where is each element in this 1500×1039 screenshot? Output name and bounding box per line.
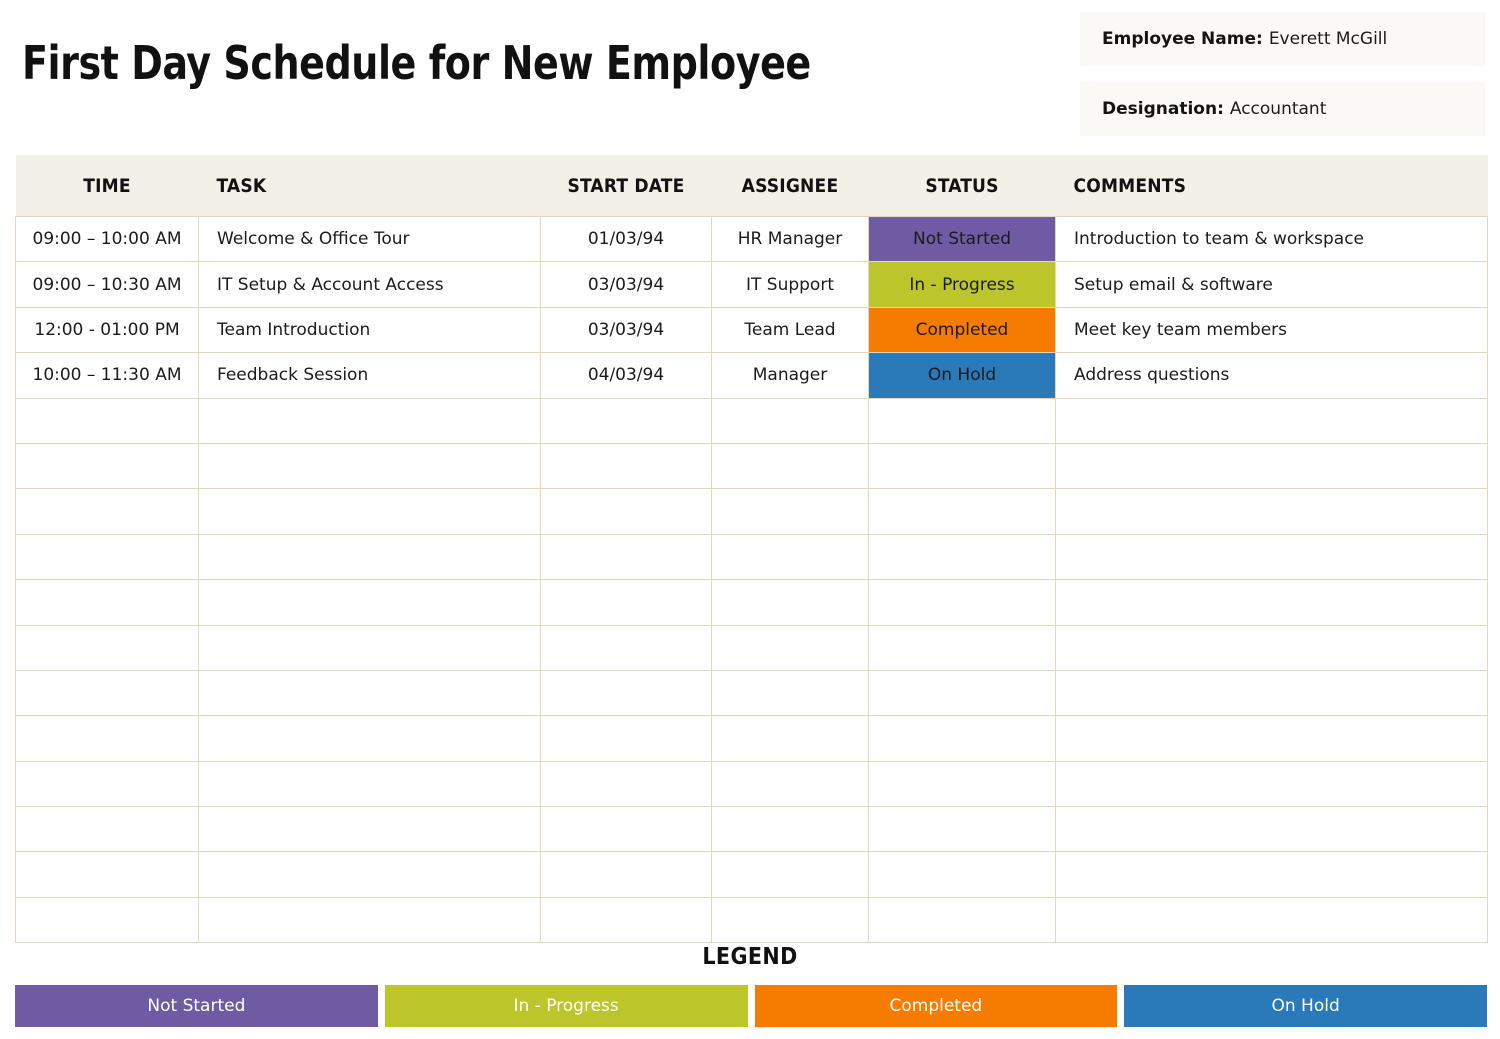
legend-bars: Not StartedIn - ProgressCompletedOn Hold [15,985,1487,1027]
cell-assignee[interactable] [712,625,869,670]
cell-time[interactable]: 10:00 – 11:30 AM [16,353,199,398]
cell-time[interactable] [16,852,199,897]
table-row[interactable] [16,443,1488,488]
table-row[interactable]: 12:00 - 01:00 PMTeam Introduction03/03/9… [16,307,1488,352]
cell-comments[interactable] [1056,489,1488,534]
cell-comments[interactable] [1056,761,1488,806]
status-badge[interactable]: On Hold [869,353,1056,398]
table-row[interactable]: 09:00 – 10:00 AMWelcome & Office Tour01/… [16,217,1488,262]
table-row[interactable] [16,807,1488,852]
cell-comments[interactable]: Address questions [1056,353,1488,398]
status-badge-fill: On Hold [869,353,1056,397]
table-body: 09:00 – 10:00 AMWelcome & Office Tour01/… [16,217,1488,943]
cell-comments[interactable] [1056,670,1488,715]
cell-time[interactable] [16,625,199,670]
status-badge[interactable] [869,897,1056,942]
table-header-row: TIMETASKSTART DATEASSIGNEESTATUSCOMMENTS [16,155,1488,217]
employee-name-value: Everett McGill [1269,29,1387,49]
legend-title: LEGEND [0,944,1500,970]
status-badge[interactable] [869,534,1056,579]
cell-task[interactable] [199,625,541,670]
cell-task[interactable] [199,489,541,534]
status-badge[interactable] [869,852,1056,897]
cell-start[interactable] [541,443,712,488]
cell-comments[interactable] [1056,807,1488,852]
cell-time[interactable] [16,443,199,488]
designation-value: Accountant [1230,99,1327,119]
status-badge[interactable] [869,443,1056,488]
table-row[interactable] [16,897,1488,942]
table-row[interactable] [16,398,1488,443]
cell-start[interactable] [541,852,712,897]
status-badge[interactable] [869,489,1056,534]
cell-start[interactable] [541,534,712,579]
cell-start[interactable]: 04/03/94 [541,353,712,398]
status-badge-fill: Not Started [869,217,1056,261]
cell-start[interactable] [541,761,712,806]
cell-assignee[interactable] [712,534,869,579]
cell-task[interactable] [199,534,541,579]
cell-start[interactable] [541,716,712,761]
status-badge-fill: In - Progress [869,262,1056,306]
cell-task[interactable] [199,398,541,443]
cell-comments[interactable] [1056,897,1488,942]
legend-item-1[interactable]: In - Progress [385,985,748,1027]
cell-start[interactable]: 03/03/94 [541,262,712,307]
page-title: First Day Schedule for New Employee [22,38,811,89]
cell-start[interactable]: 03/03/94 [541,307,712,352]
cell-start[interactable]: 01/03/94 [541,217,712,262]
column-header-comments: COMMENTS [1056,155,1488,217]
table-row[interactable] [16,761,1488,806]
column-header-assignee: ASSIGNEE [712,155,869,217]
table-row[interactable] [16,852,1488,897]
cell-assignee[interactable] [712,716,869,761]
cell-comments[interactable] [1056,580,1488,625]
cell-task[interactable] [199,761,541,806]
cell-comments[interactable] [1056,398,1488,443]
cell-start[interactable] [541,580,712,625]
cell-time[interactable]: 09:00 – 10:30 AM [16,262,199,307]
table-row[interactable] [16,534,1488,579]
cell-task[interactable]: Team Introduction [199,307,541,352]
cell-task[interactable] [199,897,541,942]
schedule-table-wrapper: TIMETASKSTART DATEASSIGNEESTATUSCOMMENTS… [15,155,1487,943]
cell-task[interactable] [199,807,541,852]
cell-assignee[interactable] [712,489,869,534]
cell-comments[interactable] [1056,716,1488,761]
cell-start[interactable] [541,897,712,942]
cell-time[interactable] [16,489,199,534]
status-badge[interactable] [869,398,1056,443]
cell-task[interactable]: Feedback Session [199,353,541,398]
employee-name-box: Employee Name: Everett McGill [1080,12,1485,66]
employee-name-label: Employee Name: [1102,29,1263,49]
cell-task[interactable]: IT Setup & Account Access [199,262,541,307]
column-header-task: TASK [199,155,541,217]
status-badge[interactable] [869,580,1056,625]
legend-item-3[interactable]: On Hold [1124,985,1487,1027]
cell-time[interactable] [16,398,199,443]
cell-comments[interactable] [1056,625,1488,670]
page-header: First Day Schedule for New Employee Empl… [0,0,1500,155]
status-badge[interactable] [869,761,1056,806]
cell-task[interactable] [199,852,541,897]
column-header-time: TIME [16,155,199,217]
status-badge-fill: Completed [869,308,1056,352]
schedule-table: TIMETASKSTART DATEASSIGNEESTATUSCOMMENTS… [15,155,1488,943]
status-badge[interactable] [869,716,1056,761]
cell-time[interactable] [16,670,199,715]
column-header-status: STATUS [869,155,1056,217]
cell-time[interactable] [16,761,199,806]
legend-item-2[interactable]: Completed [755,985,1118,1027]
legend-item-label: Not Started [147,996,245,1016]
legend-item-label: In - Progress [513,996,618,1016]
cell-assignee[interactable] [712,580,869,625]
cell-time[interactable] [16,807,199,852]
table-row[interactable] [16,625,1488,670]
cell-assignee[interactable] [712,443,869,488]
table-row[interactable] [16,670,1488,715]
status-badge[interactable]: In - Progress [869,262,1056,307]
cell-start[interactable] [541,625,712,670]
cell-assignee[interactable] [712,852,869,897]
legend-item-label: On Hold [1271,996,1339,1016]
cell-comments[interactable]: Introduction to team & workspace [1056,217,1488,262]
status-badge[interactable]: Not Started [869,217,1056,262]
cell-time[interactable]: 09:00 – 10:00 AM [16,217,199,262]
designation-box: Designation: Accountant [1080,82,1485,136]
table-row[interactable] [16,580,1488,625]
cell-start[interactable] [541,398,712,443]
legend-item-0[interactable]: Not Started [15,985,378,1027]
legend-item-label: Completed [890,996,983,1016]
cell-time[interactable] [16,716,199,761]
status-badge[interactable] [869,807,1056,852]
cell-assignee[interactable]: HR Manager [712,217,869,262]
status-badge[interactable] [869,625,1056,670]
table-row[interactable]: 10:00 – 11:30 AMFeedback Session04/03/94… [16,353,1488,398]
cell-time[interactable] [16,534,199,579]
cell-start[interactable] [541,489,712,534]
cell-comments[interactable]: Setup email & software [1056,262,1488,307]
table-row[interactable] [16,716,1488,761]
cell-task[interactable] [199,443,541,488]
cell-time[interactable] [16,897,199,942]
cell-comments[interactable]: Meet key team members [1056,307,1488,352]
cell-assignee[interactable] [712,807,869,852]
cell-task[interactable] [199,580,541,625]
cell-assignee[interactable] [712,670,869,715]
status-badge[interactable]: Completed [869,307,1056,352]
cell-task[interactable] [199,670,541,715]
cell-assignee[interactable]: Manager [712,353,869,398]
table-row[interactable]: 09:00 – 10:30 AMIT Setup & Account Acces… [16,262,1488,307]
cell-time[interactable] [16,580,199,625]
cell-time[interactable]: 12:00 - 01:00 PM [16,307,199,352]
cell-assignee[interactable] [712,761,869,806]
cell-assignee[interactable]: IT Support [712,262,869,307]
column-header-start: START DATE [541,155,712,217]
table-row[interactable] [16,489,1488,534]
cell-assignee[interactable] [712,398,869,443]
cell-start[interactable] [541,807,712,852]
cell-start[interactable] [541,670,712,715]
employee-info-panel: Employee Name: Everett McGill Designatio… [1080,12,1485,136]
cell-comments[interactable] [1056,852,1488,897]
cell-task[interactable] [199,716,541,761]
status-badge[interactable] [869,670,1056,715]
cell-comments[interactable] [1056,534,1488,579]
cell-assignee[interactable]: Team Lead [712,307,869,352]
designation-label: Designation: [1102,99,1224,119]
cell-task[interactable]: Welcome & Office Tour [199,217,541,262]
cell-assignee[interactable] [712,897,869,942]
cell-comments[interactable] [1056,443,1488,488]
